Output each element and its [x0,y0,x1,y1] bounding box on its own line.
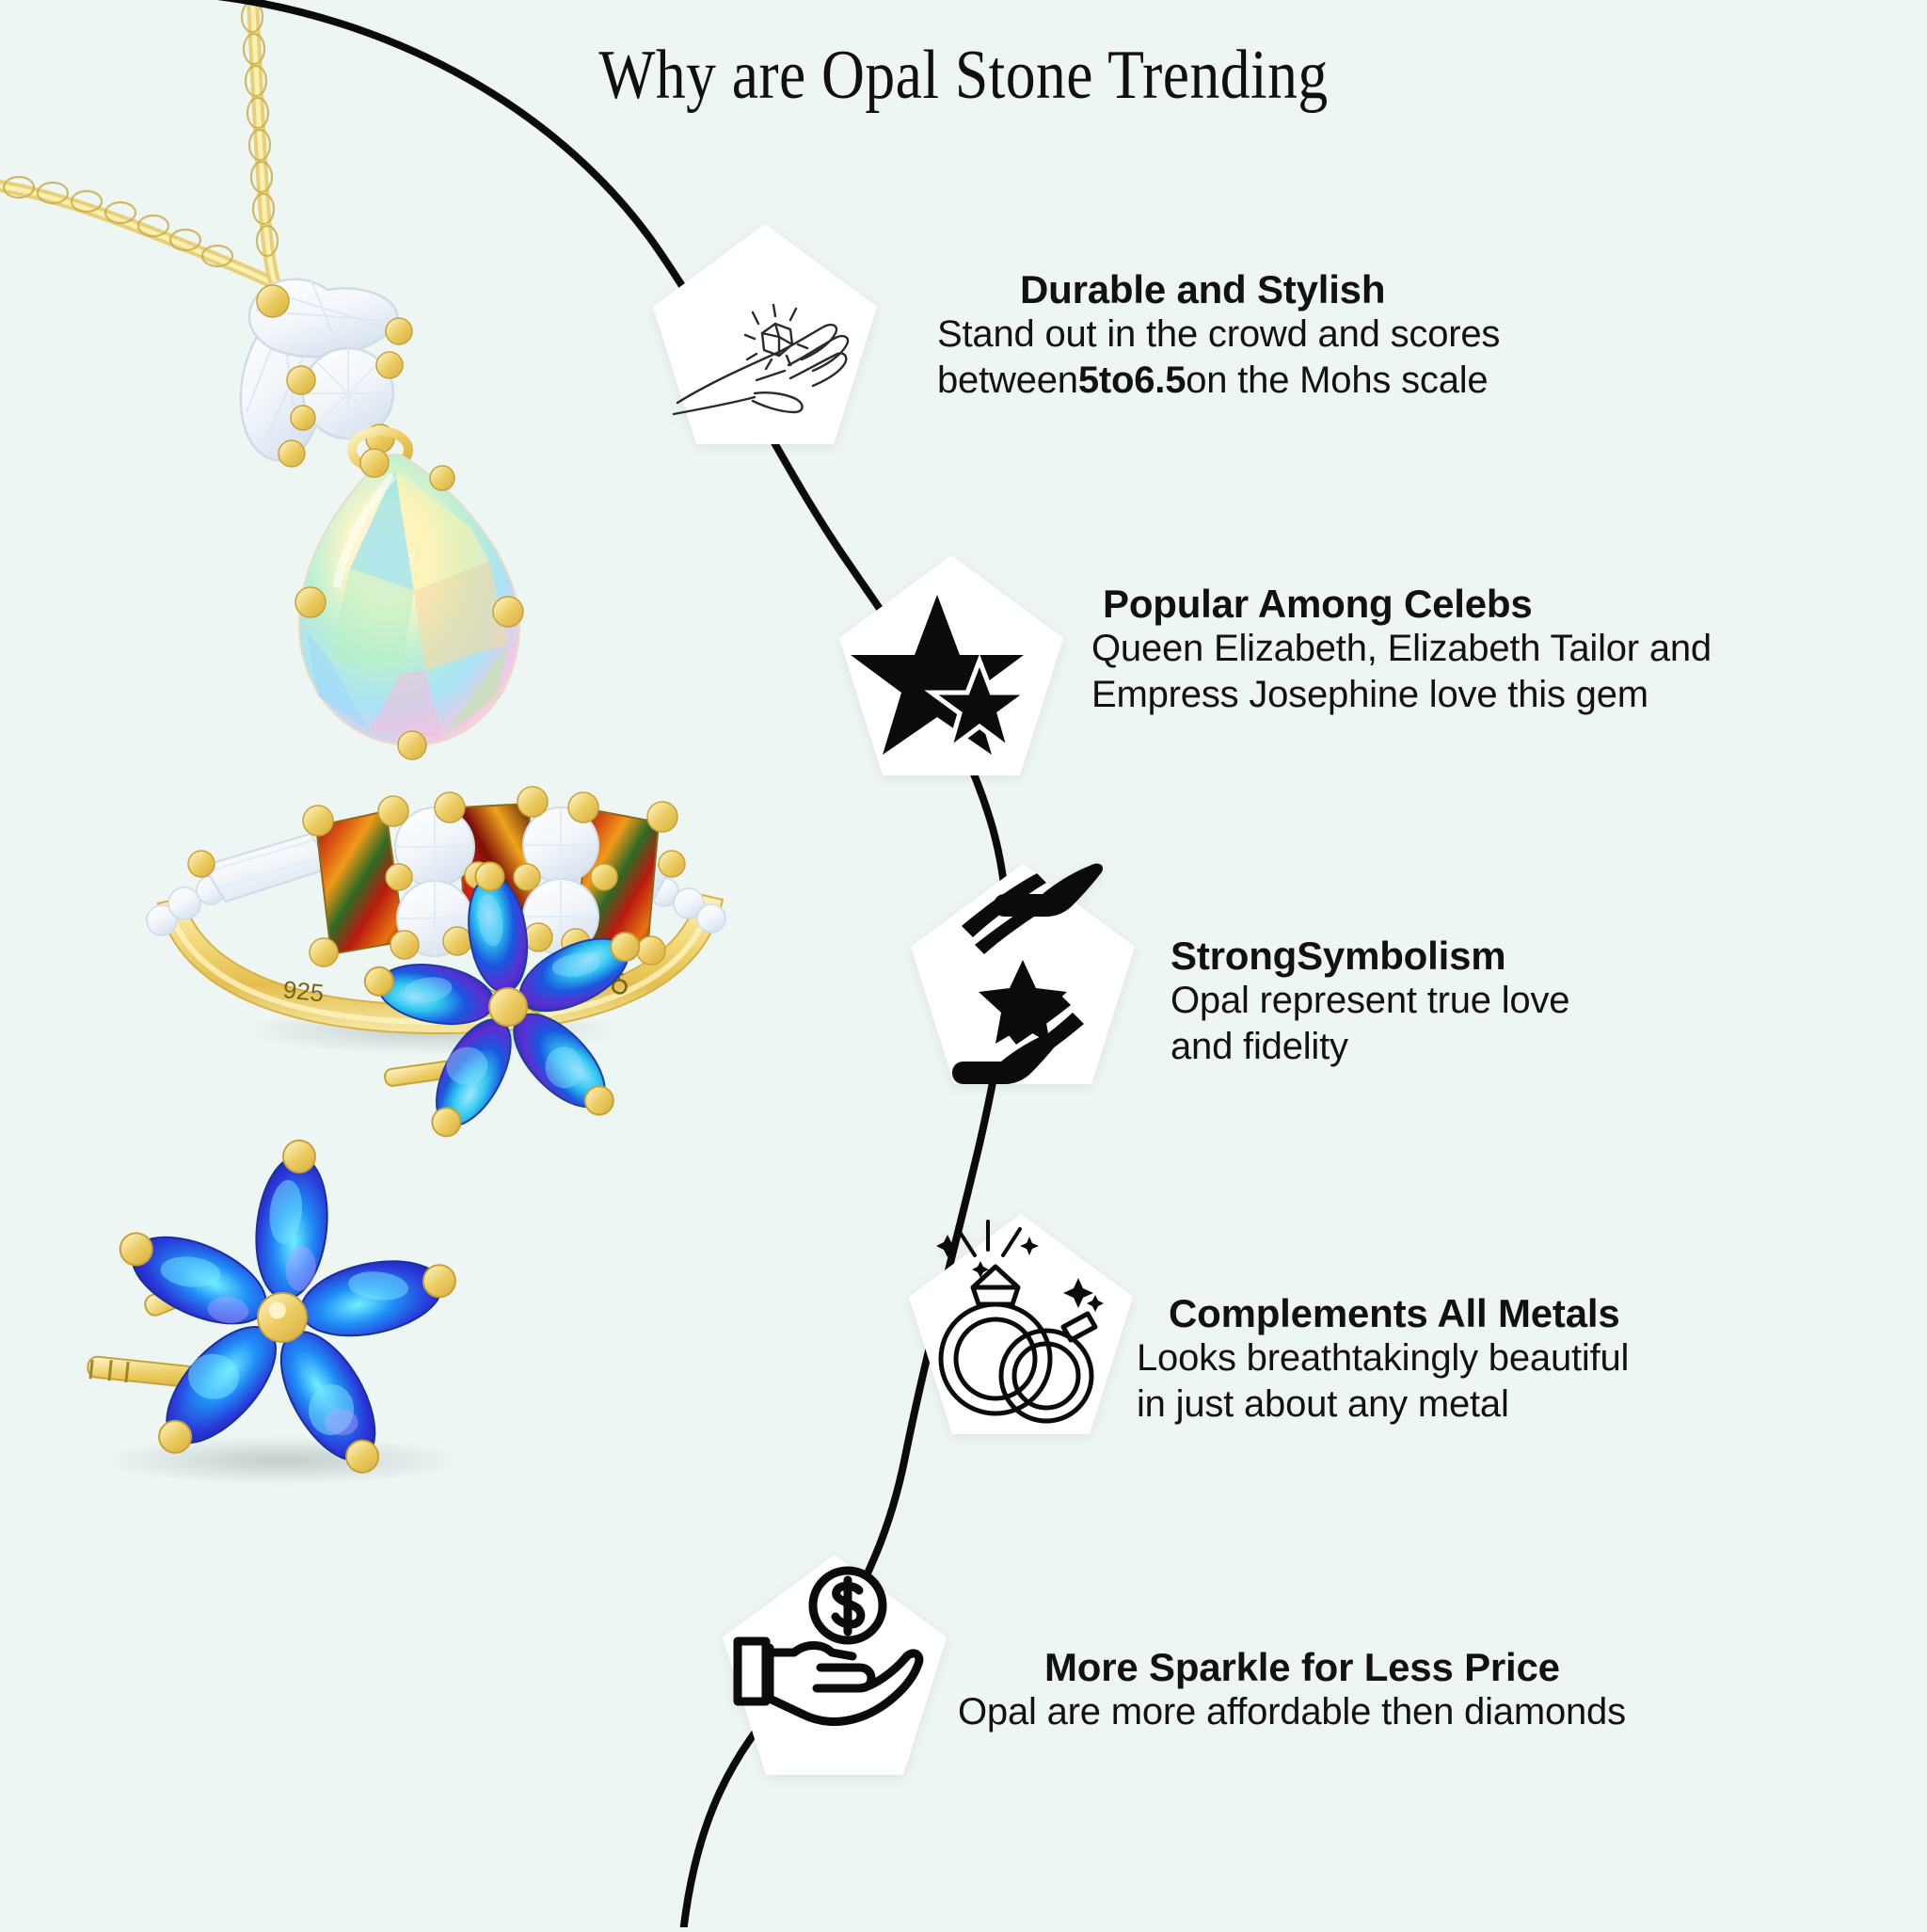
feature-heading-5: More Sparkle for Less Price [1044,1645,1626,1689]
feature-body-line2-3: and fidelity [1171,1024,1569,1070]
feature-body-line2-1: between5to6.5on the Mohs scale [937,358,1500,404]
feature-text-1: Durable and Stylish Stand out in the cro… [937,267,1500,404]
feature-heading-2: Popular Among Celebs [1103,582,1712,626]
hand-with-ring-icon [647,218,883,452]
feature-body-line2-4: in just about any metal [1137,1381,1629,1428]
hand-holding-dollar-icon [717,1549,952,1782]
ring-stamp-925: 925 [281,975,325,1007]
hands-holding-star-icon [905,858,1140,1092]
pendant-diamond-cluster [241,279,412,467]
feature-body-line1-2: Queen Elizabeth, Elizabeth Tailor and [1091,626,1712,672]
mohs-scale-value: 5to6.5 [1078,359,1186,401]
feature-text-5: More Sparkle for Less Price Opal are mor… [958,1645,1626,1735]
opal-pendant-necklace [0,0,523,759]
feature-heading-4: Complements All Metals [1169,1291,1629,1335]
feature-text-3: StrongSymbolism Opal represent true love… [1171,934,1569,1070]
feature-heading-1: Durable and Stylish [1020,267,1500,311]
feature-body-line1-1: Stand out in the crowd and scores [937,311,1500,358]
feature-text-2: Popular Among Celebs Queen Elizabeth, El… [1091,582,1712,718]
infographic-canvas: Why are Opal Stone Trending [0,0,1927,1927]
feature-heading-3: StrongSymbolism [1171,934,1569,978]
white-opal-pear [295,449,523,759]
feature-body-line1-5: Opal are more affordable then diamonds [958,1689,1626,1735]
feature-body-line1-4: Looks breathtakingly beautiful [1137,1335,1629,1381]
double-star-icon [834,550,1069,783]
feature-body-line2-2: Empress Josephine love this gem [1091,672,1712,718]
feature-text-4: Complements All Metals Looks breathtakin… [1137,1291,1629,1428]
feature-body-line1-3: Opal represent true love [1171,978,1569,1024]
two-rings-sparkle-icon [903,1208,1139,1442]
